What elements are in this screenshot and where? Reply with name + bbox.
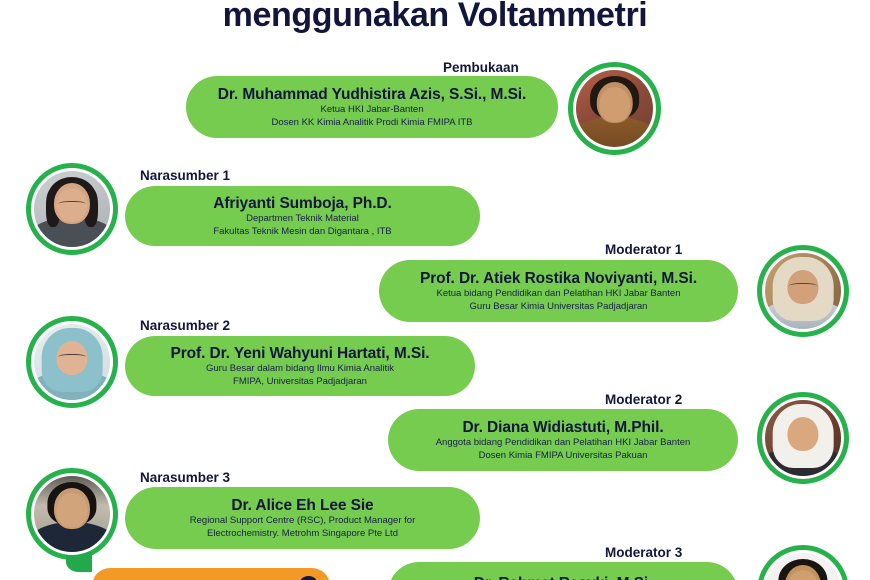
card-moderator-1: Prof. Dr. Atiek Rostika Noviyanti, M.Si.… bbox=[379, 260, 738, 322]
speaker-sub2: Guru Besar Kimia Universitas Padjadjaran bbox=[470, 301, 648, 314]
avatar-narasumber-3 bbox=[26, 468, 118, 560]
avatar-image bbox=[573, 67, 656, 150]
card-narasumber-2: Prof. Dr. Yeni Wahyuni Hartati, M.Si. Gu… bbox=[125, 336, 475, 396]
avatar-image bbox=[31, 168, 113, 250]
role-label-narasumber-3: Narasumber 3 bbox=[140, 470, 230, 485]
speaker-name: Dr. Rahmat Rasyki, M.Si. bbox=[474, 574, 653, 580]
speaker-name: Prof. Dr. Atiek Rostika Noviyanti, M.Si. bbox=[420, 269, 697, 288]
role-label-moderator-3: Moderator 3 bbox=[605, 545, 682, 560]
avatar-image bbox=[762, 550, 844, 580]
role-label-narasumber-1: Narasumber 1 bbox=[140, 168, 230, 183]
card-moderator-3: Dr. Rahmat Rasyki, M.Si. bbox=[388, 562, 738, 580]
role-label-moderator-1: Moderator 1 bbox=[605, 242, 682, 257]
avatar-narasumber-2 bbox=[26, 316, 118, 408]
speaker-sub2: Dosen KK Kimia Analitik Prodi Kimia FMIP… bbox=[272, 117, 473, 130]
speaker-sub1: Anggota bidang Pendidikan dan Pelatihan … bbox=[436, 437, 691, 450]
avatar-image bbox=[762, 397, 844, 479]
speaker-name: Prof. Dr. Yeni Wahyuni Hartati, M.Si. bbox=[171, 344, 430, 363]
speaker-name: Dr. Muhammad Yudhistira Azis, S.Si., M.S… bbox=[218, 85, 526, 104]
card-narasumber-1: Afriyanti Sumboja, Ph.D. Departmen Tekni… bbox=[125, 186, 480, 246]
speaker-sub1: Ketua bidang Pendidikan dan Pelatihan HK… bbox=[436, 288, 680, 301]
avatar-image bbox=[762, 250, 844, 332]
avatar-image bbox=[31, 321, 113, 403]
card-pembukaan: Dr. Muhammad Yudhistira Azis, S.Si., M.S… bbox=[186, 76, 558, 138]
role-label-pembukaan: Pembukaan bbox=[443, 60, 519, 75]
page-title: menggunakan Voltammetri bbox=[0, 0, 870, 35]
speaker-name: Dr. Diana Widiastuti, M.Phil. bbox=[462, 418, 663, 437]
speaker-sub2: FMIPA, Universitas Padjadjaran bbox=[233, 376, 367, 389]
card-moderator-2: Dr. Diana Widiastuti, M.Phil. Anggota bi… bbox=[388, 409, 738, 471]
avatar-moderator-1 bbox=[757, 245, 849, 337]
avatar-narasumber-1 bbox=[26, 163, 118, 255]
avatar-image bbox=[31, 473, 113, 555]
speaker-sub1: Ketua HKI Jabar-Banten bbox=[321, 104, 424, 117]
avatar-moderator-2 bbox=[757, 392, 849, 484]
speaker-sub1: Departmen Teknik Material bbox=[246, 213, 359, 226]
decorative-green-sliver bbox=[66, 552, 92, 572]
speaker-sub2: Dosen Kimia FMIPA Universitas Pakuan bbox=[479, 450, 648, 463]
poster-canvas: menggunakan Voltammetri Pembukaan Dr. Mu… bbox=[0, 0, 870, 580]
orange-banner bbox=[92, 568, 330, 580]
speaker-sub2: Fakultas Teknik Mesin dan Digantara , IT… bbox=[213, 226, 391, 239]
avatar-pembukaan bbox=[568, 62, 661, 155]
speaker-sub2: Electrochemistry. Metrohm Singapore Pte … bbox=[207, 528, 398, 541]
avatar-moderator-3 bbox=[757, 545, 849, 580]
speaker-sub1: Guru Besar dalam bidang Ilmu Kimia Anali… bbox=[206, 363, 394, 376]
speaker-name: Dr. Alice Eh Lee Sie bbox=[231, 496, 373, 515]
role-label-moderator-2: Moderator 2 bbox=[605, 392, 682, 407]
speaker-name: Afriyanti Sumboja, Ph.D. bbox=[213, 194, 391, 213]
speaker-sub1: Regional Support Centre (RSC), Product M… bbox=[190, 515, 415, 528]
role-label-narasumber-2: Narasumber 2 bbox=[140, 318, 230, 333]
card-narasumber-3: Dr. Alice Eh Lee Sie Regional Support Ce… bbox=[125, 487, 480, 549]
